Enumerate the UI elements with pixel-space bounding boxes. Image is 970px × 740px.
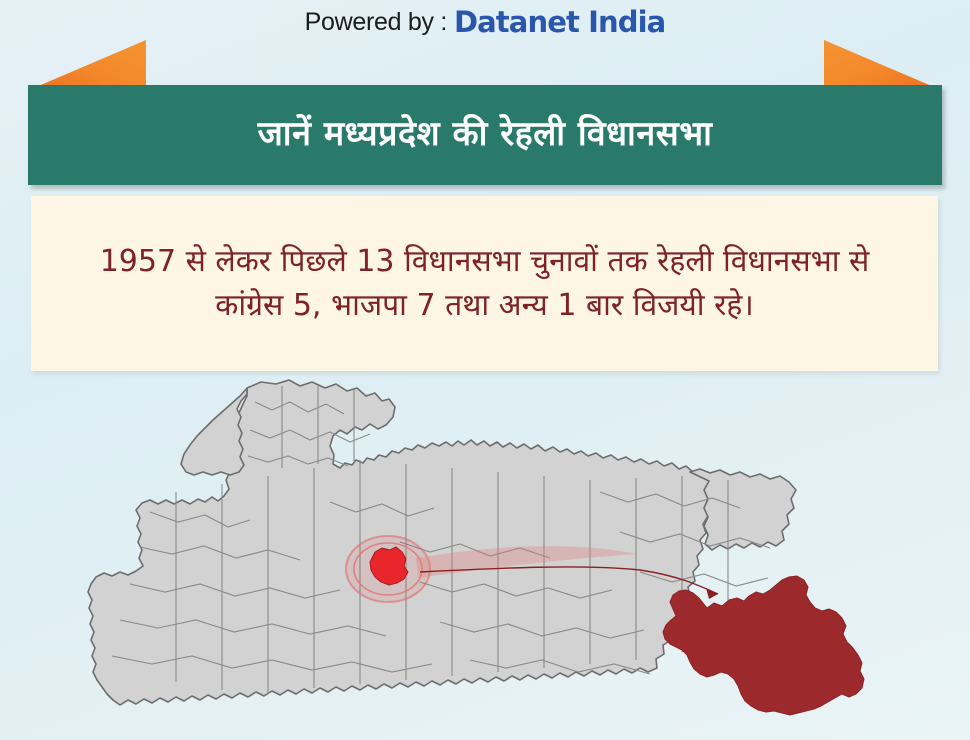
rehli-constituency-enlarged <box>663 576 864 715</box>
description-text: 1957 से लेकर पिछले 13 विधानसभा चुनावों त… <box>31 240 938 327</box>
datanet-india-brand: Datanet India <box>454 5 665 39</box>
map-svg <box>0 372 970 740</box>
ribbon-body: जानें मध्यप्रदेश की रेहली विधानसभा <box>28 85 942 185</box>
powered-by-label: Powered by : <box>305 8 447 37</box>
title-ribbon: जानें मध्यप्रदेश की रेहली विधानसभा <box>0 40 970 190</box>
state-north-lobe <box>181 388 247 475</box>
powered-by-strip: Powered by : Datanet India <box>0 4 970 40</box>
ribbon-flap-right-icon <box>824 40 934 87</box>
callout-arrowhead-icon <box>706 588 718 599</box>
map-illustration <box>0 372 970 740</box>
page-title: जानें मध्यप्रदेश की रेहली विधानसभा <box>234 116 737 153</box>
infographic-canvas: Powered by : Datanet India जानें मध्यप्र… <box>0 0 970 740</box>
description-panel: 1957 से लेकर पिछले 13 विधानसभा चुनावों त… <box>31 196 938 371</box>
ribbon-flap-left-icon <box>36 40 146 87</box>
